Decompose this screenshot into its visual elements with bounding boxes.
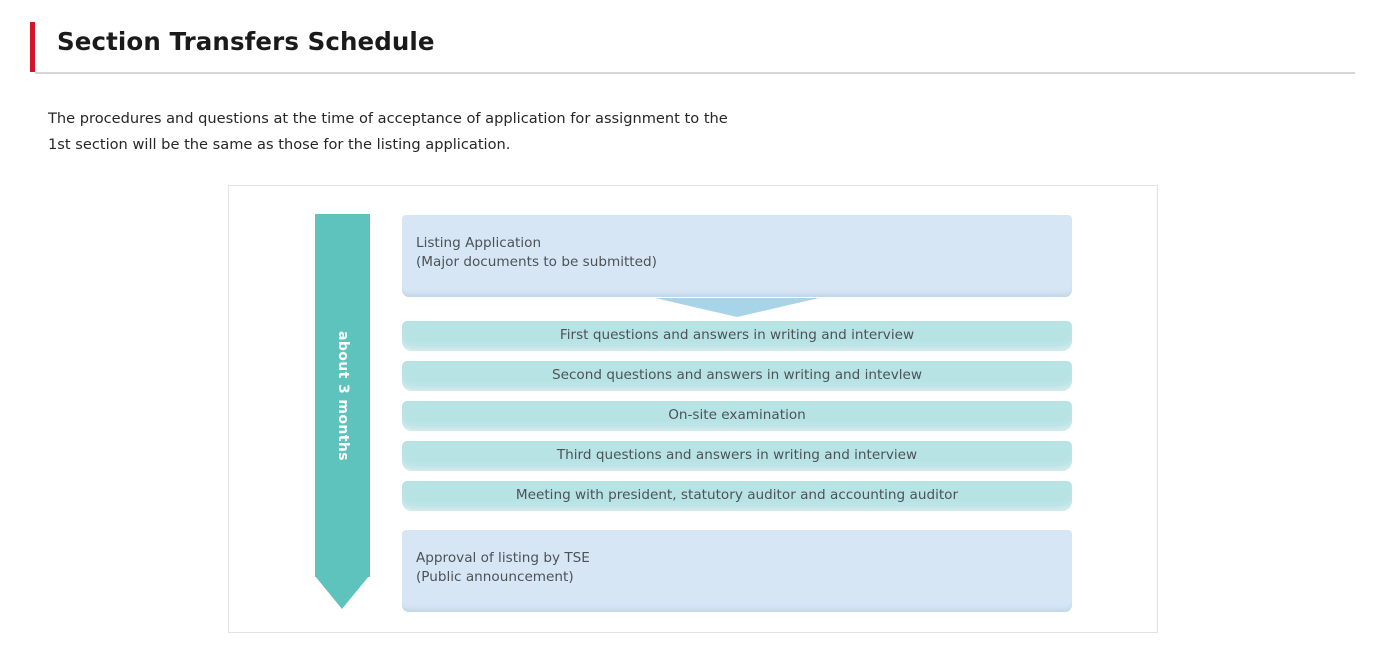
intro-line-1: The procedures and questions at the time… xyxy=(48,106,1008,132)
duration-arrow-label-wrap: about 3 months xyxy=(315,214,370,577)
block-listing-application-line-1: Listing Application xyxy=(416,234,1072,253)
step-ribbon: First questions and answers in writing a… xyxy=(402,321,1072,351)
arrow-down-icon xyxy=(315,576,369,609)
page-title: Section Transfers Schedule xyxy=(57,27,435,56)
block-listing-application-line-2: (Major documents to be submitted) xyxy=(416,253,1072,272)
title-accent-bar xyxy=(30,22,35,72)
step-ribbon: Second questions and answers in writing … xyxy=(402,361,1072,391)
block-approval-text: Approval of listing by TSE (Public annou… xyxy=(416,549,1072,587)
flow-arrow xyxy=(402,297,1072,317)
step-label: On-site examination xyxy=(668,407,806,423)
intro-line-2: 1st section will be the same as those fo… xyxy=(48,132,1008,158)
block-listing-application-text: Listing Application (Major documents to … xyxy=(416,234,1072,272)
step-ribbon: On-site examination xyxy=(402,401,1072,431)
step-label: Second questions and answers in writing … xyxy=(552,367,922,383)
block-approval-wrap: Approval of listing by TSE (Public annou… xyxy=(402,530,1072,612)
step-label: Third questions and answers in writing a… xyxy=(557,447,917,463)
steps-group: First questions and answers in writing a… xyxy=(402,321,1072,511)
stage-column: Listing Application (Major documents to … xyxy=(402,215,1072,612)
block-approval-of-listing: Approval of listing by TSE (Public annou… xyxy=(402,530,1072,612)
chevron-down-icon xyxy=(655,298,819,317)
schedule-diagram: about 3 months Listing Application (Majo… xyxy=(228,185,1158,633)
step-ribbon: Meeting with president, statutory audito… xyxy=(402,481,1072,511)
block-approval-line-2: (Public announcement) xyxy=(416,568,1072,587)
step-label: First questions and answers in writing a… xyxy=(560,327,914,343)
intro-paragraph: The procedures and questions at the time… xyxy=(48,106,1008,158)
header-divider xyxy=(35,72,1355,74)
block-approval-line-1: Approval of listing by TSE xyxy=(416,549,1072,568)
duration-arrow-label: about 3 months xyxy=(335,330,351,460)
step-ribbon: Third questions and answers in writing a… xyxy=(402,441,1072,471)
block-listing-application: Listing Application (Major documents to … xyxy=(402,215,1072,297)
step-label: Meeting with president, statutory audito… xyxy=(516,487,958,503)
duration-arrow: about 3 months xyxy=(315,214,370,609)
